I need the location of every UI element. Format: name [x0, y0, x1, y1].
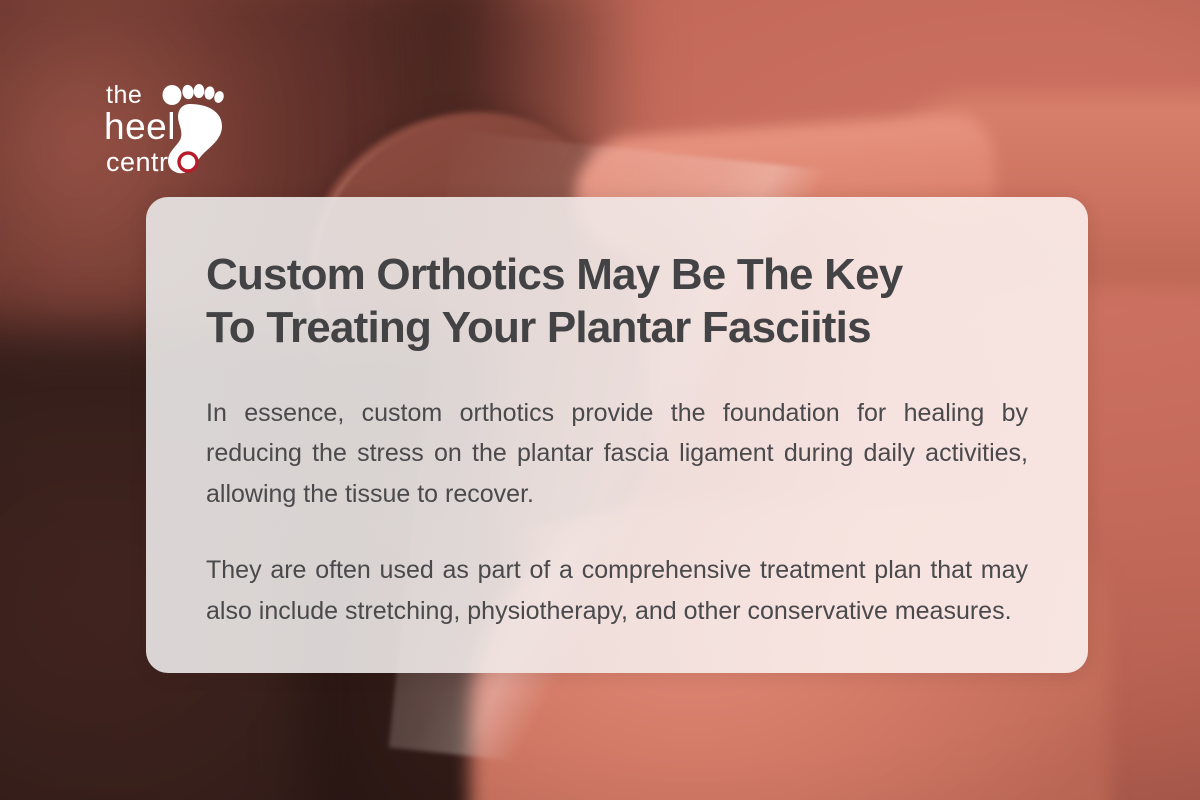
body-paragraph-2: They are often used as part of a compreh… [206, 550, 1028, 631]
page-title-line-2: To Treating Your Plantar Fasciitis [206, 302, 1028, 355]
body-paragraph-1: In essence, custom orthotics provide the… [206, 393, 1028, 515]
brand-logo[interactable]: the heel centre [104, 76, 232, 180]
svg-text:the: the [106, 81, 142, 109]
page-title-line-1: Custom Orthotics May Be The Key [206, 249, 1028, 302]
poster-canvas: the heel centre [0, 0, 1200, 800]
content-card: Custom Orthotics May Be The Key To Treat… [146, 197, 1088, 673]
page-title: Custom Orthotics May Be The Key To Treat… [206, 249, 1028, 355]
svg-text:heel: heel [104, 106, 176, 147]
